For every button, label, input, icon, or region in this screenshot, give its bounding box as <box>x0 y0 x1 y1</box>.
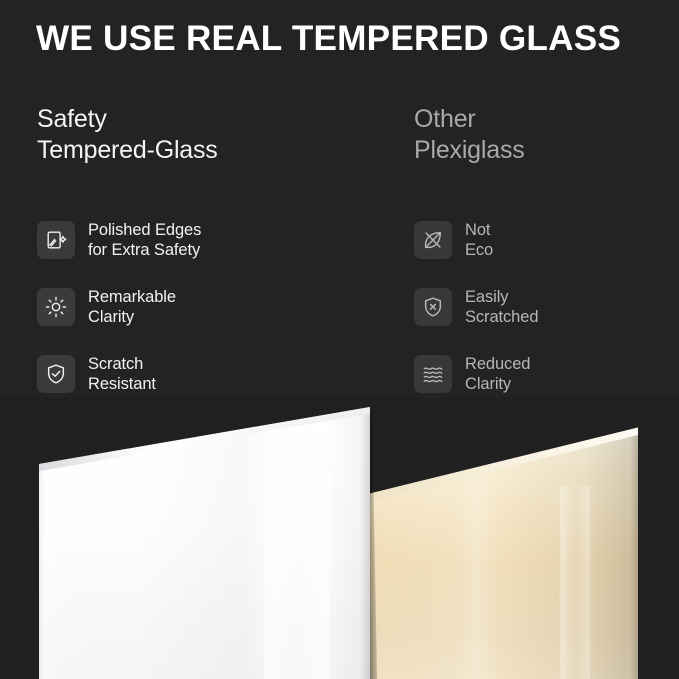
column-title-left: Safety Tempered-Glass <box>37 104 387 166</box>
feature-label: Easily Scratched <box>465 287 538 327</box>
feature-row: Polished Edges for Extra Safety <box>37 206 387 273</box>
feature-label: Polished Edges for Extra Safety <box>88 220 201 260</box>
sun-clarity-icon <box>37 288 75 326</box>
column-plexiglass: Other Plexiglass Not Eco <box>414 104 669 166</box>
polished-edge-sparkle-icon <box>37 221 75 259</box>
tempered-glass-panel-reflection <box>264 474 330 679</box>
column-title-right: Other Plexiglass <box>414 104 669 166</box>
wavy-lines-icon <box>414 355 452 393</box>
feature-label: Remarkable Clarity <box>88 287 176 327</box>
plexiglass-panel-reflection <box>560 486 590 679</box>
feature-row: Remarkable Clarity <box>37 273 387 340</box>
feature-label: Not Eco <box>465 220 493 260</box>
feature-row: Reduced Clarity <box>414 340 669 407</box>
leaf-crossed-out-icon <box>414 221 452 259</box>
feature-label: Reduced Clarity <box>465 354 530 394</box>
feature-row: Easily Scratched <box>414 273 669 340</box>
feature-row: Scratch Resistant <box>37 340 387 407</box>
comparison-infographic: WE USE REAL TEMPERED GLASS Safety Temper… <box>0 0 679 679</box>
feature-row: Not Eco <box>414 206 669 273</box>
product-photo <box>0 398 679 679</box>
column-tempered-glass: Safety Tempered-Glass Polished Edges for… <box>37 104 387 166</box>
feature-list-right: Not Eco Easily Scratched <box>414 206 669 407</box>
feature-list-left: Polished Edges for Extra Safety <box>37 206 387 407</box>
shield-x-icon <box>414 288 452 326</box>
shield-check-icon <box>37 355 75 393</box>
feature-label: Scratch Resistant <box>88 354 156 394</box>
page-title: WE USE REAL TEMPERED GLASS <box>36 17 659 61</box>
